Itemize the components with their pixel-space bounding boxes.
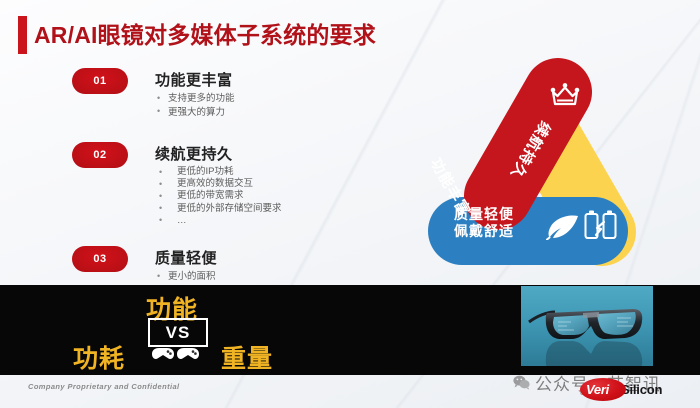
list-item: 更低的IP功耗 bbox=[155, 166, 282, 178]
logo-veri: Veri bbox=[586, 382, 609, 397]
title-accent-bar bbox=[18, 16, 27, 54]
band-label-right: 重量 bbox=[221, 339, 273, 375]
wechat-icon bbox=[513, 375, 530, 390]
ar-glasses-photo bbox=[521, 286, 653, 366]
list-item: 支持更多的功能 bbox=[155, 92, 235, 106]
badge-number-03: 03 bbox=[72, 246, 128, 272]
gamepad-icon bbox=[150, 342, 202, 367]
triangle-label-blue-line2: 佩戴舒适 bbox=[454, 223, 514, 240]
triangle-diagram: 功能丰富 续航持久 质量轻便 佩戴舒适 bbox=[398, 56, 646, 288]
crown-icon bbox=[550, 82, 580, 113]
block-3-bullets: 更小的面积 bbox=[155, 270, 216, 284]
list-item: 更高效的数据交互 bbox=[155, 178, 282, 190]
badge-number-01: 01 bbox=[72, 68, 128, 94]
block-2-bullets: 更低的IP功耗 更高效的数据交互 更低的带宽需求 更低的外部存储空间要求 … bbox=[155, 166, 282, 227]
block-2-title: 续航更持久 bbox=[155, 143, 233, 164]
list-item: 更强大的算力 bbox=[155, 106, 235, 120]
page-title: AR/AI眼镜对多媒体子系统的要求 bbox=[34, 18, 376, 52]
feather-icon bbox=[546, 214, 580, 245]
list-item: … bbox=[155, 215, 282, 227]
vs-label: VS bbox=[166, 323, 191, 343]
confidential-note: Company Proprietary and Confidential bbox=[28, 382, 180, 391]
logo-oval: Veri bbox=[580, 378, 626, 401]
badge-number-02: 02 bbox=[72, 142, 128, 168]
triangle-label-blue-line1: 质量轻便 bbox=[454, 206, 514, 223]
slide-canvas: AR/AI眼镜对多媒体子系统的要求 01 功能更丰富 支持更多的功能 更强大的算… bbox=[0, 0, 700, 408]
logo-silicon: Silicon bbox=[621, 382, 662, 397]
triangle-label-blue: 质量轻便 佩戴舒适 bbox=[454, 206, 514, 240]
block-1-title: 功能更丰富 bbox=[155, 69, 233, 90]
block-3-title: 质量轻便 bbox=[155, 247, 217, 268]
list-item: 更低的外部存储空间要求 bbox=[155, 203, 282, 215]
band-label-left: 功耗 bbox=[73, 339, 125, 375]
list-item: 更小的面积 bbox=[155, 270, 216, 284]
list-item: 更低的带宽需求 bbox=[155, 190, 282, 202]
verisilicon-logo: Veri Silicon bbox=[580, 378, 662, 401]
block-1-bullets: 支持更多的功能 更强大的算力 bbox=[155, 92, 235, 119]
battery-icon bbox=[584, 208, 618, 245]
